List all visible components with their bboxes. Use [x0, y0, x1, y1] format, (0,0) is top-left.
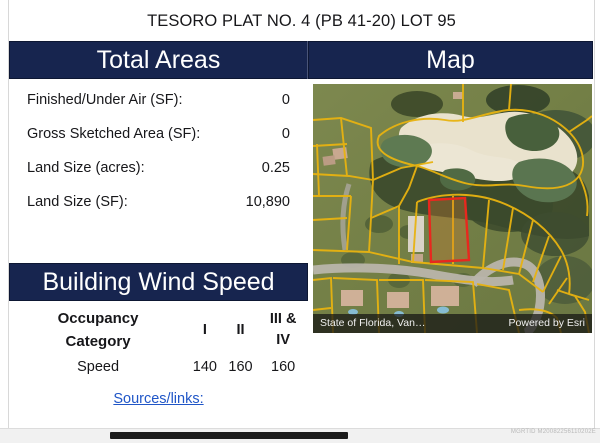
total-areas-label-finished-under-air: Finished/Under Air (SF): [9, 83, 209, 117]
property-report-page: TESORO PLAT NO. 4 (PB 41-20) LOT 95 Tota… [0, 0, 600, 442]
table-row: Gross Sketched Area (SF): 0 [9, 117, 308, 151]
column-header-category-i: I [187, 305, 223, 355]
table-row-header: Occupancy Category I II III & IV [9, 305, 308, 355]
total-areas-label-gross-sketched-area: Gross Sketched Area (SF): [9, 117, 209, 151]
total-areas-table: Finished/Under Air (SF): 0 Gross Sketche… [9, 83, 308, 219]
occupancy-category-line2: Category [66, 333, 131, 350]
subject-parcel-highlight [429, 198, 469, 262]
section-header-map: Map [308, 41, 593, 79]
sources-cell: Sources/links: [9, 380, 308, 412]
speed-value-category-iii-iv: 160 [258, 355, 308, 380]
aerial-map-image [313, 84, 592, 333]
sources-links-link[interactable]: Sources/links: [113, 391, 203, 407]
map-attribution-source: State of Florida, Van… [320, 314, 425, 333]
total-areas-label-land-size-sf: Land Size (SF): [9, 185, 209, 219]
table-row: Land Size (acres): 0.25 [9, 151, 308, 185]
total-areas-value-land-size-acres: 0.25 [209, 151, 308, 185]
table-row-sources: Sources/links: [9, 380, 308, 412]
occupancy-category-label: Occupancy Category [9, 305, 187, 355]
section-header-map-label: Map [426, 46, 475, 75]
map-attribution: State of Florida, Van… Powered by Esri [313, 314, 592, 333]
header-bar-divider [307, 41, 308, 79]
table-row: Finished/Under Air (SF): 0 [9, 83, 308, 117]
section-header-total-areas-label: Total Areas [97, 46, 221, 75]
column-header-category-iii-iv-line1: III & [270, 311, 297, 327]
section-header-building-wind-speed-label: Building Wind Speed [42, 268, 274, 297]
speed-value-category-i: 140 [187, 355, 223, 380]
total-areas-value-gross-sketched-area: 0 [209, 117, 308, 151]
parcel-map[interactable]: State of Florida, Van… Powered by Esri [313, 84, 592, 333]
speed-value-category-ii: 160 [223, 355, 259, 380]
table-row: Land Size (SF): 10,890 [9, 185, 308, 219]
total-areas-value-land-size-sf: 10,890 [209, 185, 308, 219]
table-row-speed: Speed 140 160 160 [9, 355, 308, 380]
horizontal-scrollbar-thumb[interactable] [110, 432, 348, 439]
column-header-category-ii: II [223, 305, 259, 355]
speed-row-label: Speed [9, 355, 187, 380]
column-header-category-iii-iv: III & IV [258, 305, 308, 355]
column-header-category-iii-iv-line2: IV [276, 332, 290, 348]
page-border-right [594, 0, 595, 428]
building-wind-speed-table: Occupancy Category I II III & IV Speed 1… [9, 305, 308, 412]
mls-watermark: MGRTID M20082256110202E [492, 429, 596, 435]
map-attribution-provider: Powered by Esri [509, 314, 585, 333]
page-title: TESORO PLAT NO. 4 (PB 41-20) LOT 95 [9, 4, 594, 38]
section-header-building-wind-speed: Building Wind Speed [9, 263, 308, 301]
total-areas-label-land-size-acres: Land Size (acres): [9, 151, 209, 185]
section-header-total-areas: Total Areas [9, 41, 308, 79]
total-areas-value-finished-under-air: 0 [209, 83, 308, 117]
occupancy-category-line1: Occupancy [58, 310, 139, 327]
